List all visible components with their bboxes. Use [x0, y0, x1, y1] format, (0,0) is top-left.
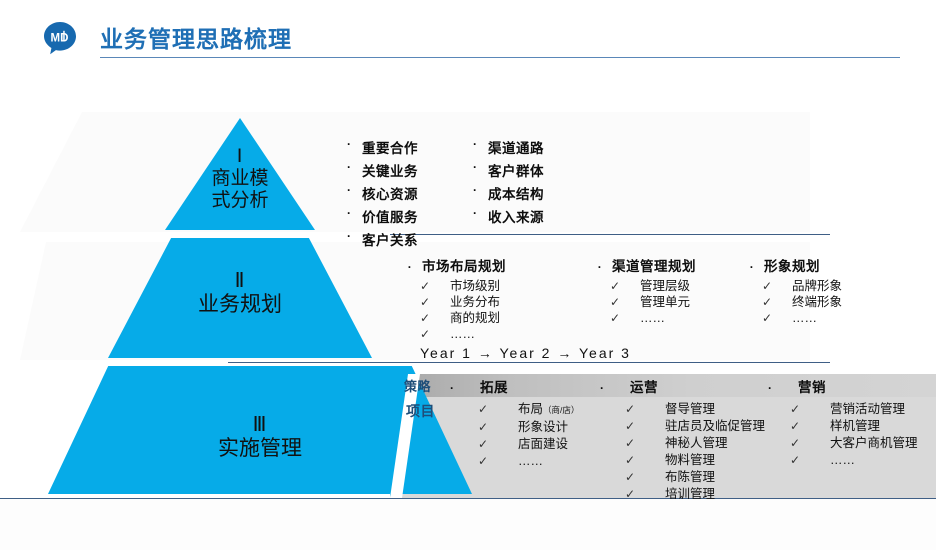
brand-logo-icon: MD [42, 20, 78, 56]
check-icon: ✓ [625, 452, 665, 469]
level1-item-left: 客户关系 [362, 227, 462, 250]
level2-list-item: ✓管理层级 [588, 278, 740, 294]
pyramid-level-1-label: Ⅰ 商业模 式分析 [165, 146, 315, 213]
level3-list-item-label: 物料管理 [665, 452, 715, 469]
bullet-icon: · [588, 260, 612, 274]
level2-column-heading: ·渠道管理规划 [588, 255, 740, 275]
level1-row: ·重要合作·渠道通路 [336, 135, 598, 158]
level2-column: ·市场布局规划✓市场级别✓业务分布✓商的规划✓…… [398, 255, 588, 342]
level2-list-item: ✓…… [588, 310, 740, 326]
check-icon: ✓ [588, 294, 624, 310]
level2-list-item: ✓品牌形象 [740, 278, 900, 294]
level3-list-item: ✓样机管理 [790, 418, 936, 435]
level3-column-1: ✓布局（商/店）✓形象设计✓店面建设✓…… [478, 401, 618, 470]
pyramid-level-2-numeral: Ⅱ [108, 270, 372, 293]
check-icon: ✓ [790, 435, 830, 452]
level3-list-item-label: 样机管理 [830, 418, 880, 435]
level3-column-heading-text: 拓展 [480, 380, 508, 395]
check-icon: ✓ [790, 401, 830, 418]
level3-list-item-label: 神秘人管理 [665, 435, 728, 452]
pyramid-level-2-label: Ⅱ 业务规划 [108, 270, 372, 317]
pyramid-level-1-name-line2: 式分析 [165, 190, 315, 212]
level3-list-item-label: …… [518, 453, 543, 470]
level1-row: ·客户关系 [336, 227, 598, 250]
check-icon: ✓ [625, 418, 665, 435]
footer-band [0, 499, 936, 550]
level2-list-item-label: 管理单元 [624, 294, 690, 310]
bullet-icon: · [450, 381, 480, 395]
pyramid-level-1-numeral: Ⅰ [165, 146, 315, 168]
check-icon: ✓ [588, 310, 624, 326]
level2-list-item-label: 商的规划 [434, 310, 500, 326]
level3-list-item: ✓驻店员及临促管理 [625, 418, 785, 435]
level2-list-item: ✓…… [398, 326, 588, 342]
level3-list-item-label: 督导管理 [665, 401, 715, 418]
level2-column-heading: ·市场布局规划 [398, 255, 588, 275]
level3-list-item-note: （商/店） [543, 402, 579, 419]
bullet-icon: · [336, 181, 362, 204]
level3-list-item: ✓形象设计 [478, 419, 618, 436]
level2-list-item-label: …… [434, 326, 475, 342]
level2-list-item: ✓市场级别 [398, 278, 588, 294]
check-icon: ✓ [625, 435, 665, 452]
pyramid-level-2[interactable]: Ⅱ 业务规划 [108, 238, 372, 358]
level1-item-right [488, 227, 598, 250]
level3-strategy-label: 策略 [404, 376, 431, 395]
level1-item-right: 渠道通路 [488, 135, 598, 158]
svg-text:MD: MD [51, 33, 69, 45]
level2-list-item-label: 管理层级 [624, 278, 690, 294]
level3-list-item: ✓布陈管理 [625, 469, 785, 486]
level3-list-item-label: 布局 [518, 401, 543, 418]
level1-table: ·重要合作·渠道通路·关键业务·客户群体·核心资源·成本结构·价值服务·收入来源… [336, 135, 598, 250]
bullet-icon: · [336, 135, 362, 158]
bullet-icon: · [462, 135, 488, 158]
level2-column-heading-text: 形象规划 [764, 255, 820, 275]
level1-item-left: 关键业务 [362, 158, 462, 181]
level1-item-left: 价值服务 [362, 204, 462, 227]
header-divider [100, 57, 900, 58]
level2-list-item-label: 业务分布 [434, 294, 500, 310]
level2-item-list: ✓管理层级✓管理单元✓…… [588, 278, 740, 326]
level2-column-heading: ·形象规划 [740, 255, 900, 275]
bullet-icon: · [336, 204, 362, 227]
bullet-icon: · [336, 158, 362, 181]
check-icon: ✓ [740, 294, 776, 310]
bullet-icon: · [336, 227, 362, 250]
level2-item-list: ✓品牌形象✓终端形象✓…… [740, 278, 900, 326]
level3-column-heading-text: 营销 [798, 380, 826, 395]
check-icon: ✓ [398, 310, 434, 326]
level3-list-item: ✓店面建设 [478, 436, 618, 453]
bullet-icon: · [462, 158, 488, 181]
level2-column: ·形象规划✓品牌形象✓终端形象✓…… [740, 255, 900, 342]
level2-timeline: Year 1 → Year 2 → Year 3 [420, 345, 631, 361]
check-icon: ✓ [398, 278, 434, 294]
level3-heading-3: ·营销 [768, 376, 826, 396]
check-icon: ✓ [478, 401, 518, 418]
level1-row: ·价值服务·收入来源 [336, 204, 598, 227]
level3-heading-1: ·拓展 [450, 376, 508, 396]
check-icon: ✓ [740, 278, 776, 294]
check-icon: ✓ [625, 469, 665, 486]
level3-list-item: ✓营销活动管理 [790, 401, 936, 418]
level3-list-item: ✓神秘人管理 [625, 435, 785, 452]
level3-heading-2: ·运营 [600, 376, 658, 396]
level3-list-item: ✓…… [790, 452, 936, 469]
check-icon: ✓ [588, 278, 624, 294]
level3-list-item: ✓物料管理 [625, 452, 785, 469]
level3-column-heading-text: 运营 [630, 380, 658, 395]
check-icon: ✓ [398, 326, 434, 342]
level2-list-item: ✓商的规划 [398, 310, 588, 326]
level3-list-item: ✓布局（商/店） [478, 401, 618, 419]
level3-list-item-label: 形象设计 [518, 419, 568, 436]
level1-row: ·核心资源·成本结构 [336, 181, 598, 204]
level2-column-heading-text: 渠道管理规划 [612, 255, 696, 275]
level2-item-list: ✓市场级别✓业务分布✓商的规划✓…… [398, 278, 588, 342]
level2-list-item-label: …… [776, 310, 817, 326]
check-icon: ✓ [790, 418, 830, 435]
level1-item-right: 客户群体 [488, 158, 598, 181]
diagram-stage: Ⅲ 实施管理 Ⅱ 业务规划 Ⅰ 商业模 式分析 ·重要合作·渠道通路·关键业务·… [0, 70, 936, 550]
level1-row: ·关键业务·客户群体 [336, 158, 598, 181]
level2-column-heading-text: 市场布局规划 [422, 255, 506, 275]
check-icon: ✓ [478, 436, 518, 453]
divider-level2-level3 [228, 362, 830, 363]
check-icon: ✓ [625, 401, 665, 418]
level2-list-item: ✓管理单元 [588, 294, 740, 310]
check-icon: ✓ [478, 419, 518, 436]
level1-item-right: 收入来源 [488, 204, 598, 227]
level3-list-item: ✓…… [478, 453, 618, 470]
level2-list-item: ✓业务分布 [398, 294, 588, 310]
bullet-icon: · [462, 181, 488, 204]
level3-list-item: ✓督导管理 [625, 401, 785, 418]
bullet-icon: · [740, 260, 764, 274]
bullet-icon: · [768, 381, 798, 395]
level3-list-item-label: 营销活动管理 [830, 401, 905, 418]
bullet-icon: · [462, 204, 488, 227]
level3-column-3: ✓营销活动管理✓样机管理✓大客户商机管理✓…… [790, 401, 936, 469]
page-title: 业务管理思路梳理 [100, 20, 292, 54]
level1-item-left: 核心资源 [362, 181, 462, 204]
level3-list-item-label: 店面建设 [518, 436, 568, 453]
pyramid-level-1-name-line1: 商业模 [165, 168, 315, 190]
bullet-icon: · [398, 260, 422, 274]
level3-list-item: ✓大客户商机管理 [790, 435, 936, 452]
page-header: MD 业务管理思路梳理 [0, 0, 936, 70]
level3-list-item-label: …… [830, 452, 855, 469]
level2-list-item-label: 市场级别 [434, 278, 500, 294]
level3-list-item-label: 驻店员及临促管理 [665, 418, 765, 435]
level1-content: ·重要合作·渠道通路·关键业务·客户群体·核心资源·成本结构·价值服务·收入来源… [336, 135, 666, 250]
pyramid-level-1[interactable]: Ⅰ 商业模 式分析 [165, 118, 315, 230]
level3-list-item-label: 大客户商机管理 [830, 435, 918, 452]
bullet-icon [462, 227, 488, 250]
check-icon: ✓ [740, 310, 776, 326]
check-icon: ✓ [478, 453, 518, 470]
level2-list-item-label: …… [624, 310, 665, 326]
pyramid-level-2-name: 业务规划 [108, 293, 372, 317]
level1-item-right: 成本结构 [488, 181, 598, 204]
level2-list-item-label: 终端形象 [776, 294, 842, 310]
level3-list-item-label: 布陈管理 [665, 469, 715, 486]
level3-project-label: 项目 [406, 401, 435, 421]
level2-list-item: ✓终端形象 [740, 294, 900, 310]
check-icon: ✓ [398, 294, 434, 310]
check-icon: ✓ [790, 452, 830, 469]
level1-item-left: 重要合作 [362, 135, 462, 158]
level2-column: ·渠道管理规划✓管理层级✓管理单元✓…… [588, 255, 740, 342]
level2-list-item-label: 品牌形象 [776, 278, 842, 294]
level2-list-item: ✓…… [740, 310, 900, 326]
level2-content: ·市场布局规划✓市场级别✓业务分布✓商的规划✓……·渠道管理规划✓管理层级✓管理… [398, 255, 928, 342]
bullet-icon: · [600, 381, 630, 395]
